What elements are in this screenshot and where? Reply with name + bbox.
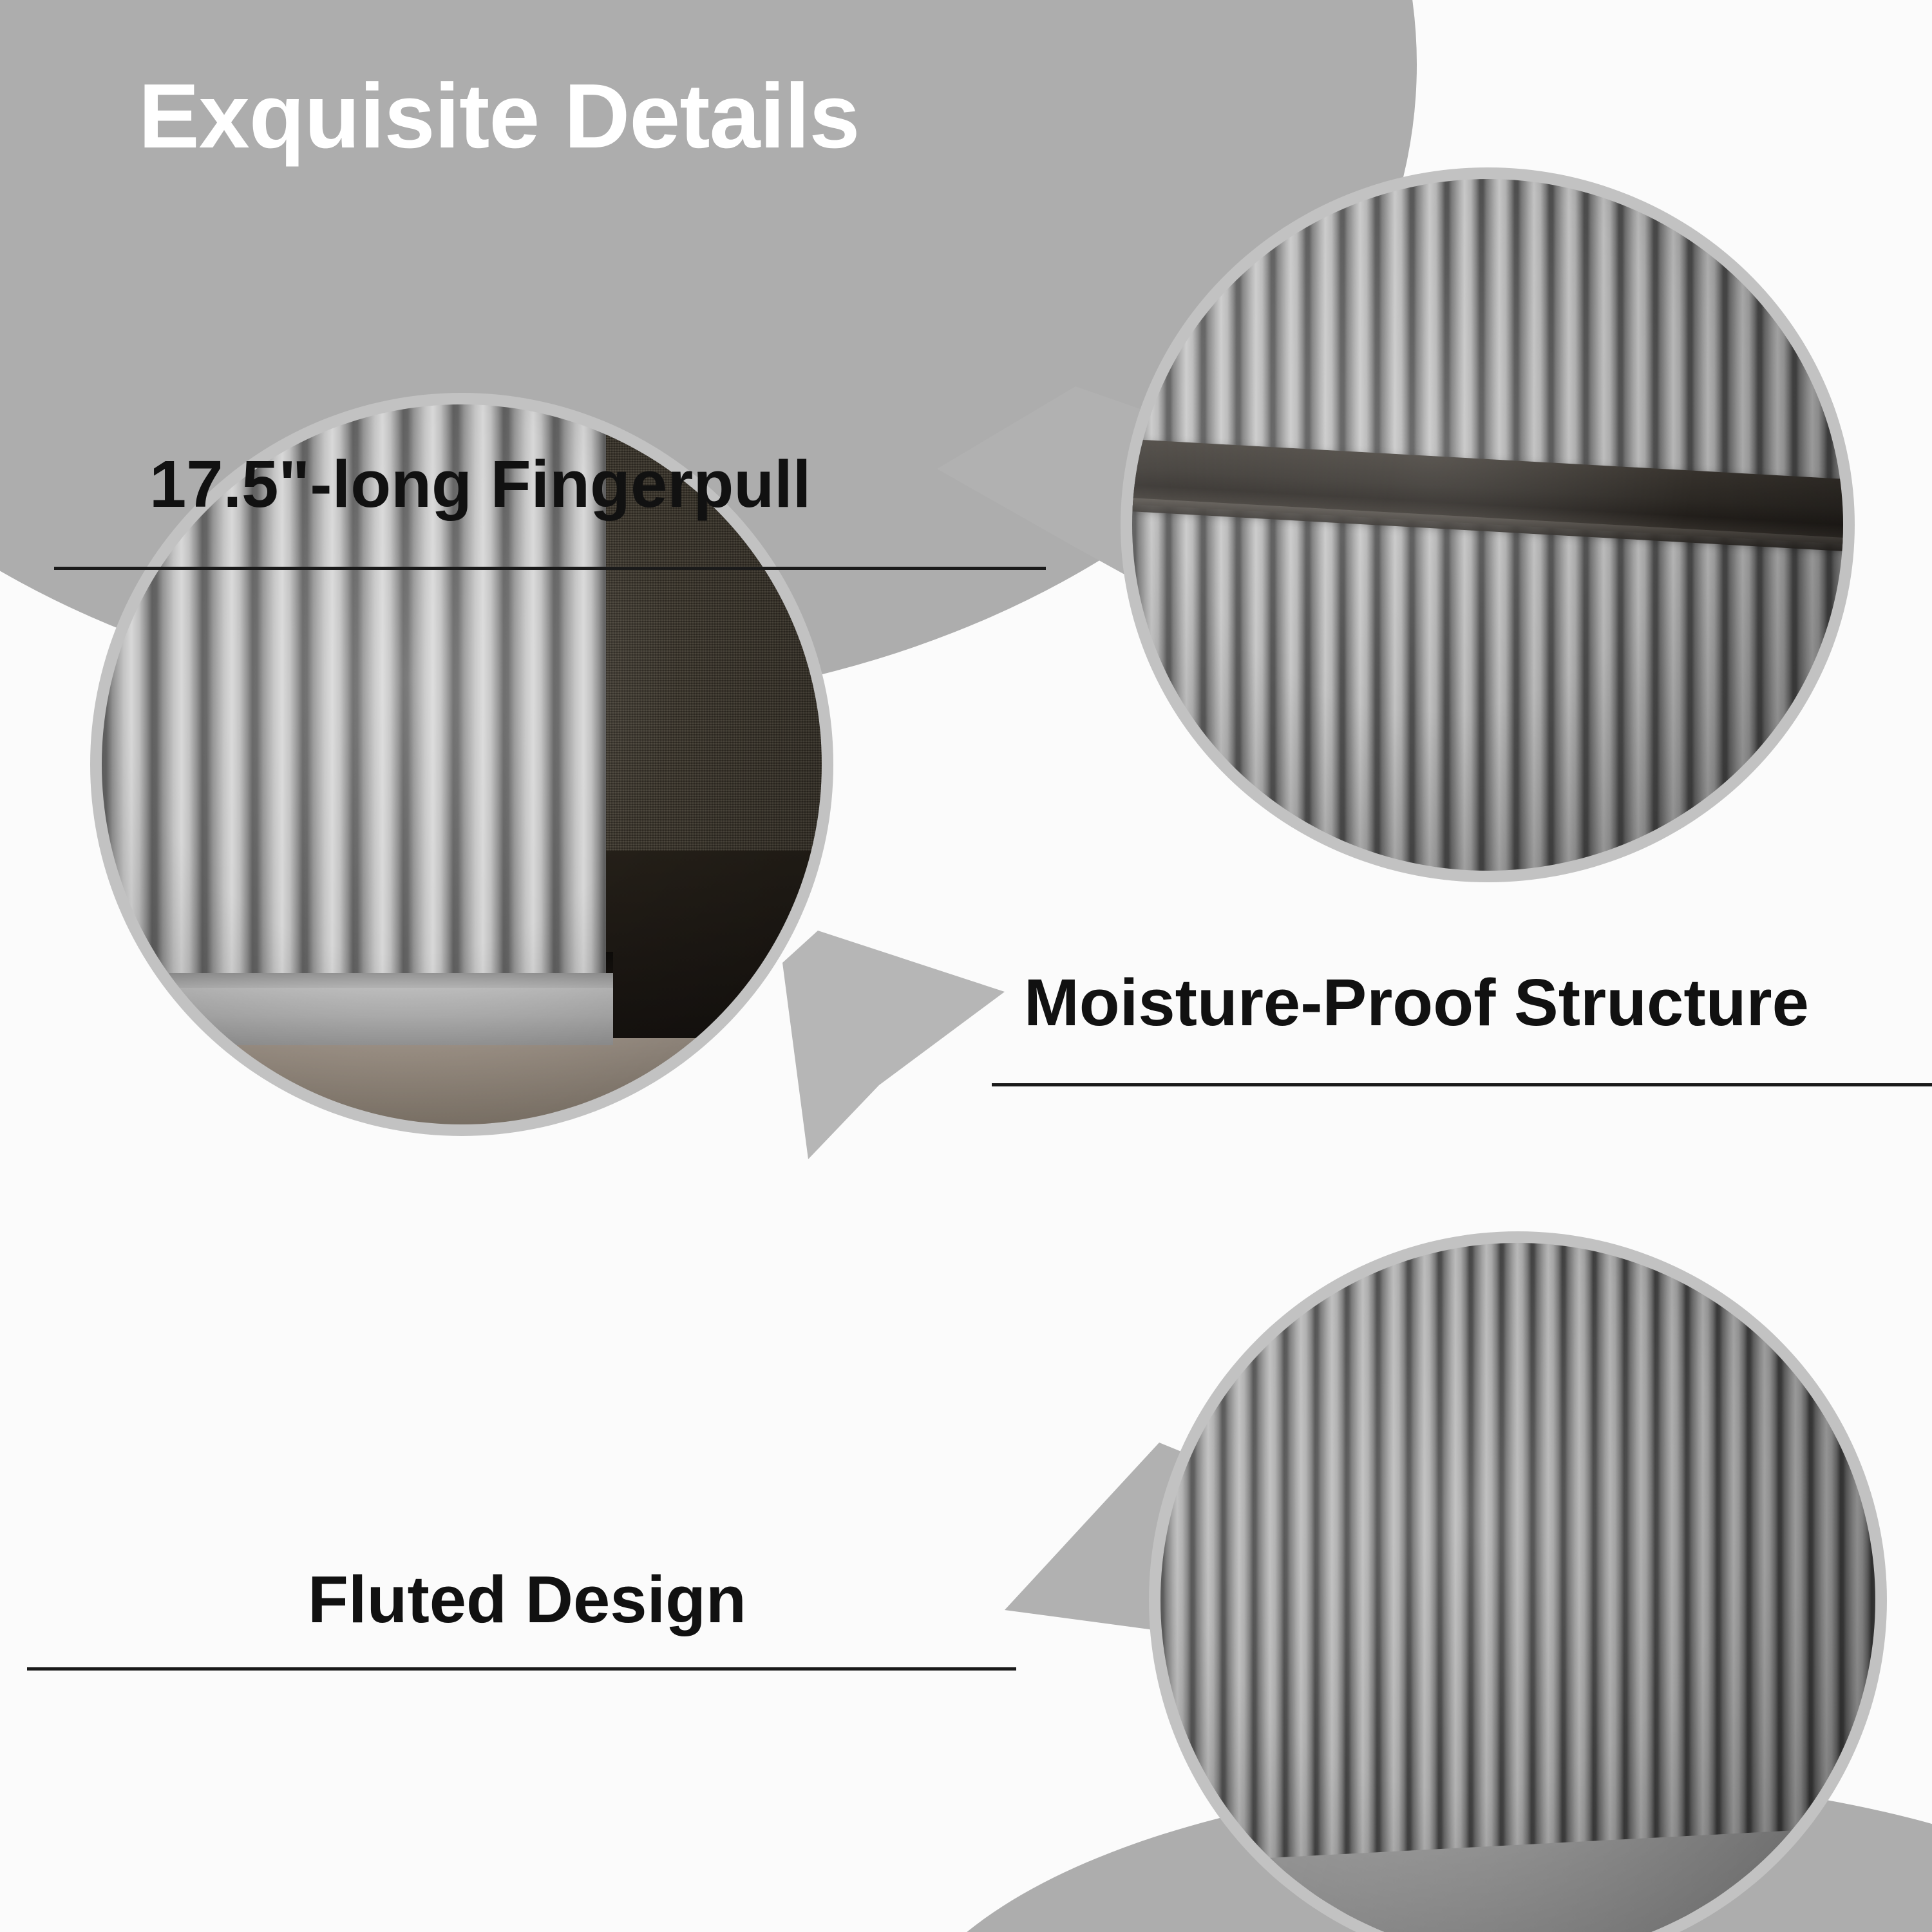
feature-label-moisture-proof: Moisture-Proof Structure (1024, 969, 1809, 1036)
photo-fingerpull (1132, 179, 1843, 871)
feature-label-fluted-design: Fluted Design (308, 1566, 746, 1633)
feature-label-fingerpull: 17.5"-long Fingerpull (149, 451, 811, 517)
photo-vignette (1160, 1243, 1875, 1932)
feature-rule-fluted-design (27, 1667, 1016, 1671)
photo-fluted-design-content (1160, 1243, 1875, 1932)
photo-fingerpull-content (1132, 179, 1843, 871)
photo-fluted-design (1160, 1243, 1875, 1932)
photo-vignette (1132, 179, 1843, 871)
feature-rule-fingerpull (54, 567, 1046, 570)
feature-rule-moisture-proof (992, 1083, 1932, 1086)
page-title: Exquisite Details (138, 71, 859, 162)
infographic-canvas: Exquisite Details (0, 0, 1932, 1932)
